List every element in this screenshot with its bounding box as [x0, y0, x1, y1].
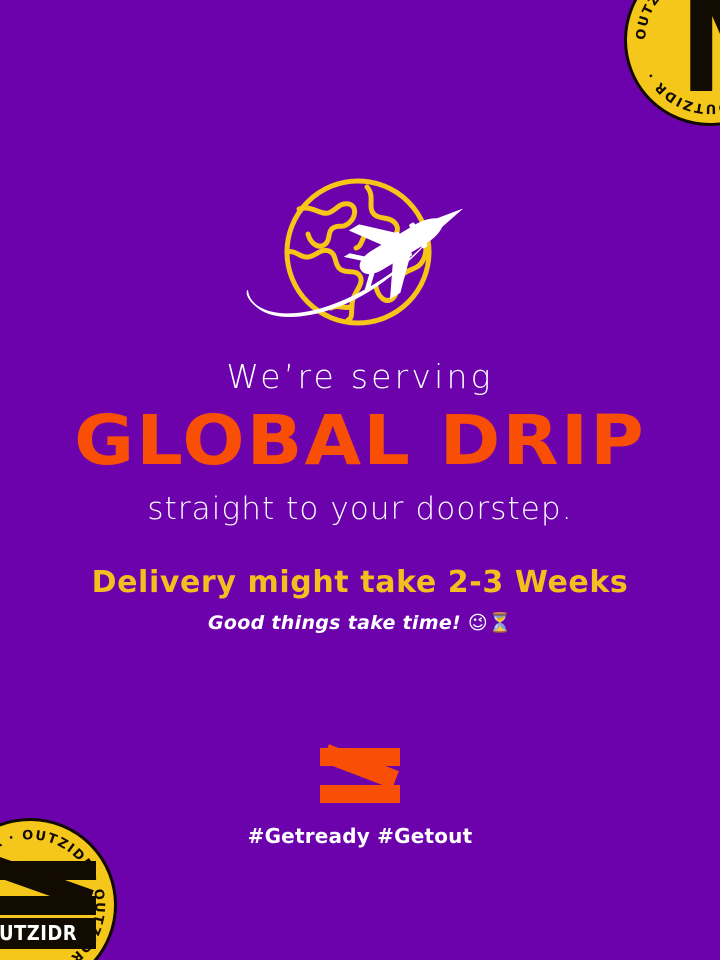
brand-badge-top-right: OUTZIDR · OUTZIDR · OUTZIDR · OUTZIDR · …: [624, 0, 720, 126]
reassurance-note: Good things take time! 😉⏳: [0, 614, 720, 633]
badge-z-monogram-icon: [0, 861, 96, 915]
z-monogram-icon: [320, 748, 400, 803]
reassurance-text: Good things take time!: [208, 612, 461, 634]
badge-wordmark: OUTZIDR: [0, 918, 96, 949]
headline-line-2: GLOBAL DRIP: [0, 407, 720, 476]
badge-letter-top-right: N: [679, 0, 720, 115]
brand-badge-bottom-left: OUTZIDR · OUTZIDR · OUTZIDR · OUTZIDR · …: [0, 818, 117, 960]
z-bottom-bar: [320, 785, 400, 803]
delivery-notice: Delivery might take 2-3 Weeks: [0, 568, 720, 598]
badge-wordmark-text: OUTZIDR: [0, 921, 77, 945]
poster-canvas: We’re serving GLOBAL DRIP straight to yo…: [0, 0, 720, 960]
badge-lockup-bottom-left: OUTZIDR: [0, 861, 96, 949]
headline-line-3: straight to your doorstep.: [0, 494, 720, 525]
headline-block: We’re serving GLOBAL DRIP straight to yo…: [0, 360, 720, 633]
wink-hourglass-emoji: 😉⏳: [468, 612, 512, 634]
globe-with-airplane-illustration: [236, 168, 484, 344]
badge-z-bottom-bar: [0, 896, 96, 915]
headline-line-1: We’re serving: [0, 360, 720, 393]
